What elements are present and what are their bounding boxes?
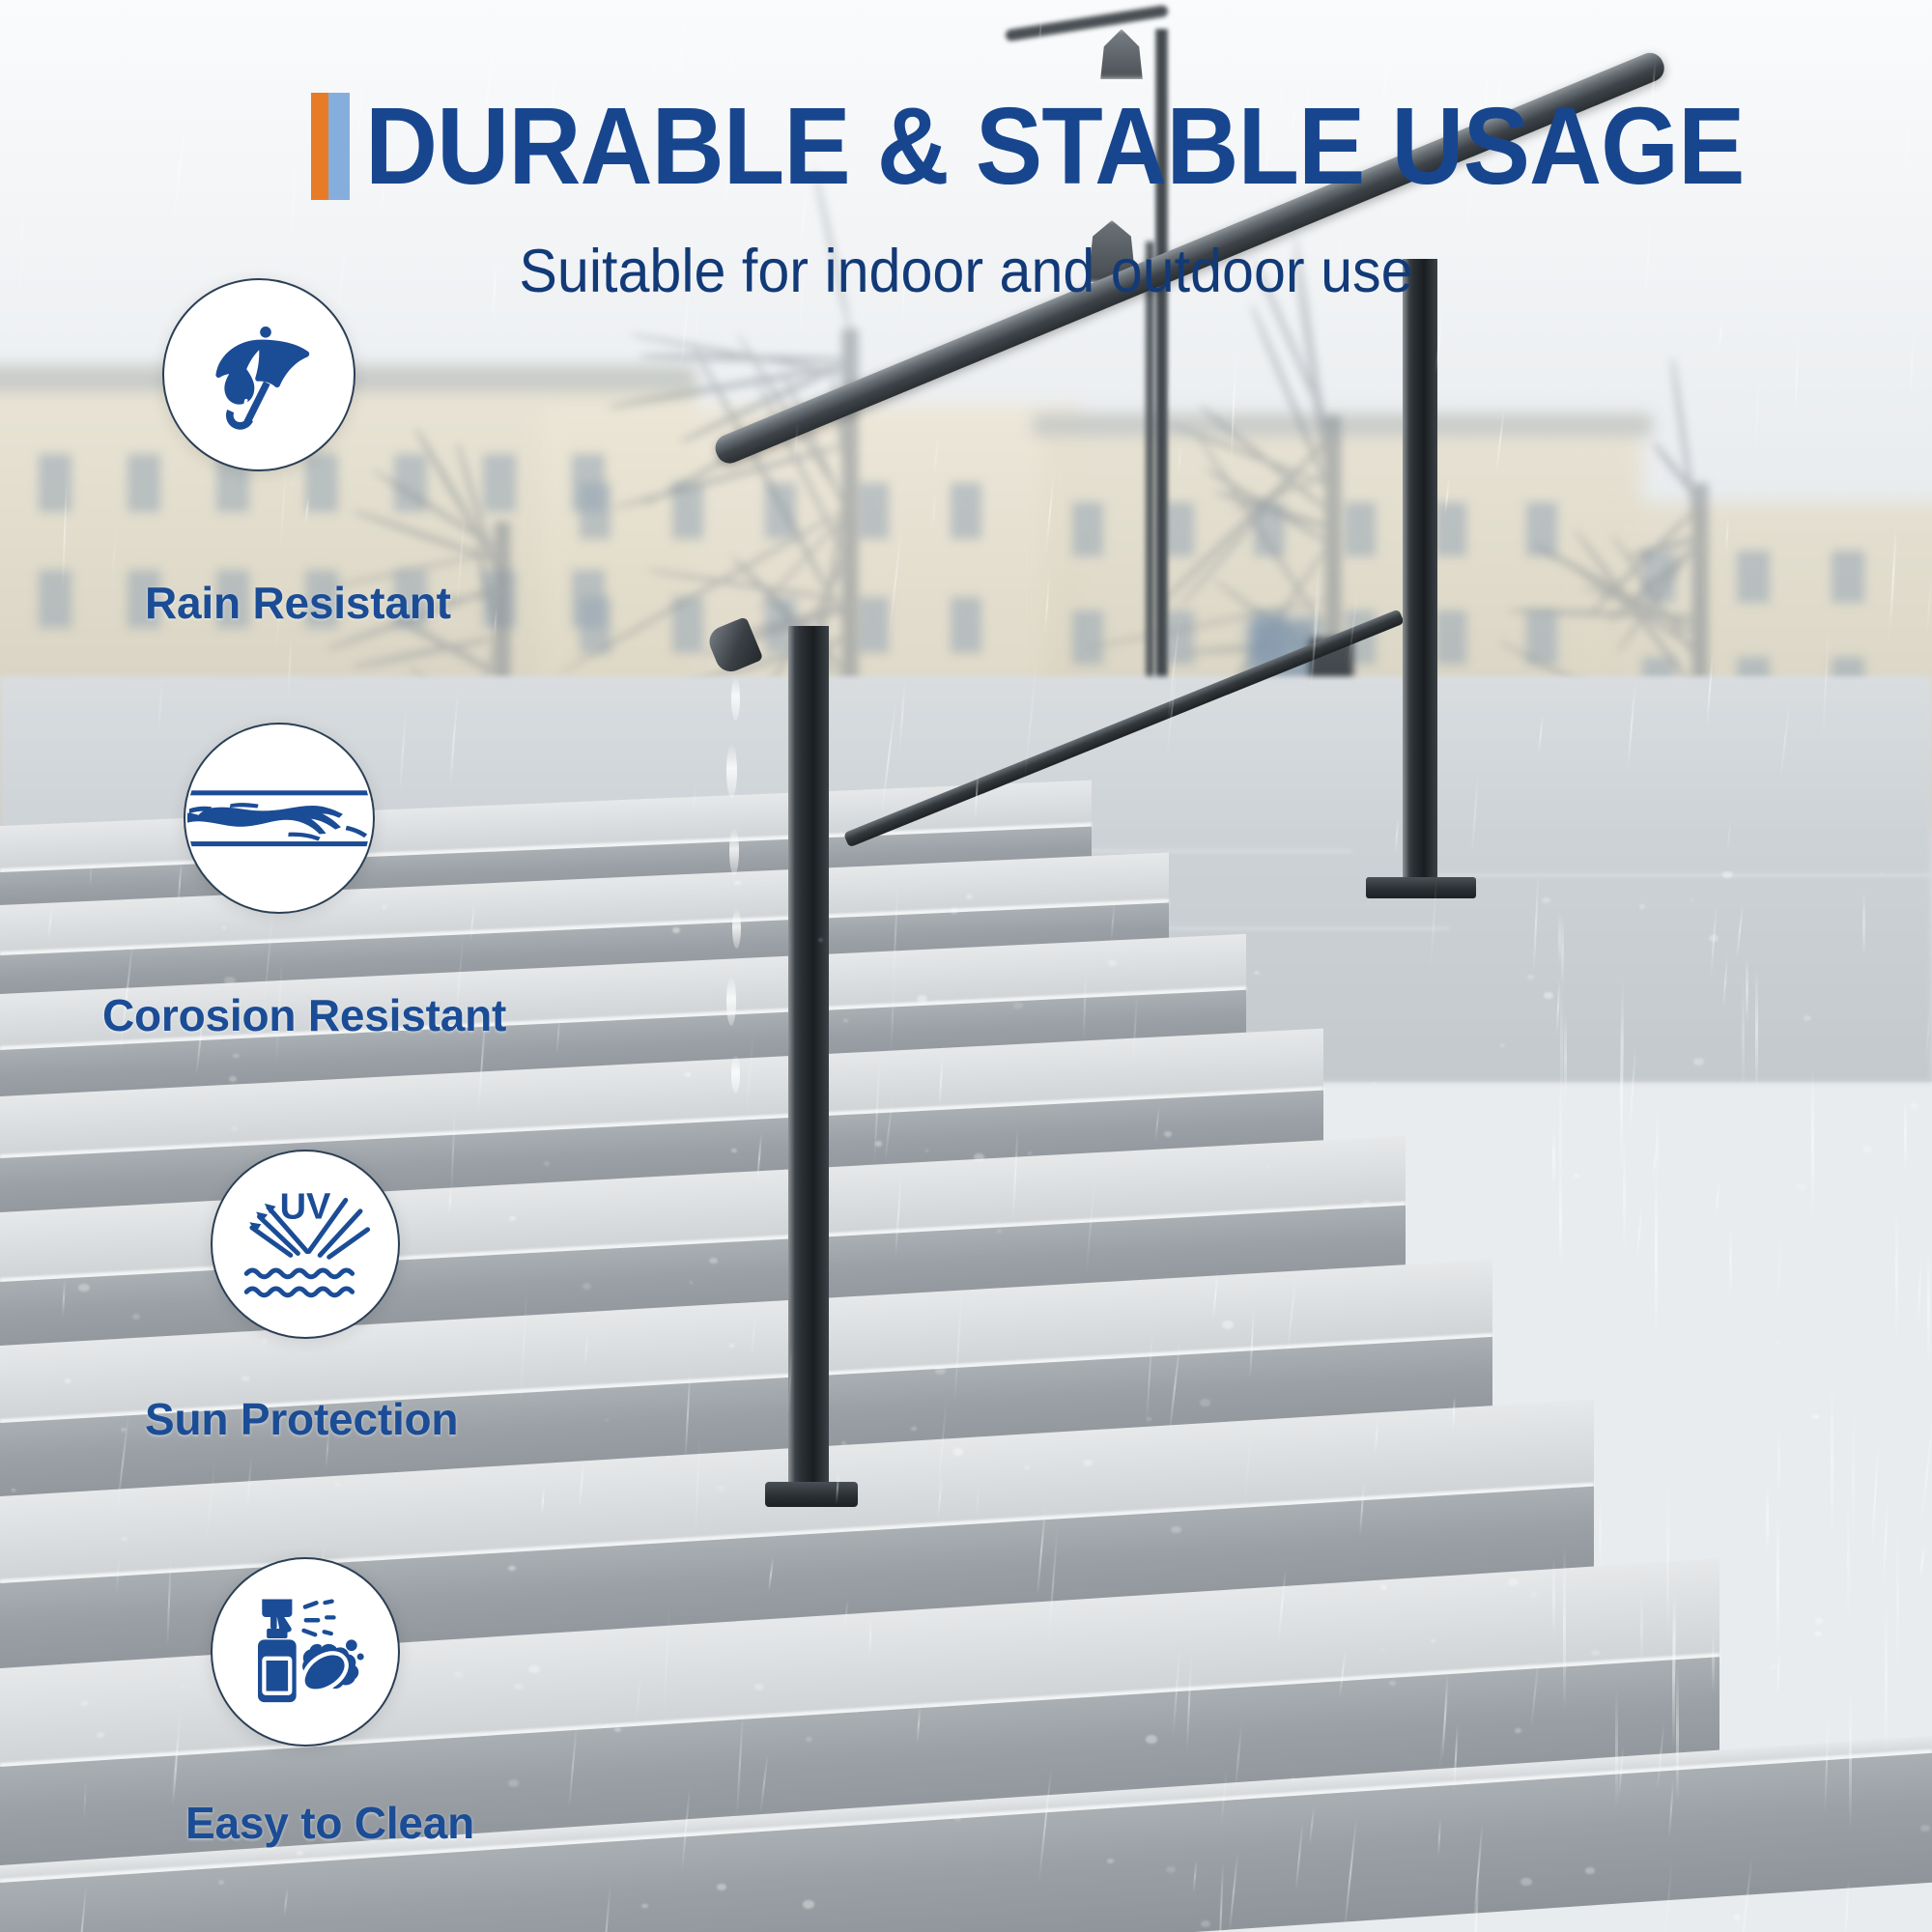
sun-protection-badge: UV <box>211 1150 400 1339</box>
title-row: DURABLE & STABLE USAGE <box>311 93 1864 200</box>
corrosion-resistant-badge <box>184 723 375 914</box>
product-infographic-canvas: DURABLE & STABLE USAGE Suitable for indo… <box>0 0 1932 1932</box>
rear-post-highlight <box>1403 259 1409 887</box>
spray-bottle-and-sponge-icon <box>238 1584 373 1719</box>
page-title: DURABLE & STABLE USAGE <box>365 93 1745 200</box>
page-subtitle: Suitable for indoor and outdoor use <box>58 237 1874 306</box>
uv-rays-reflection-icon: UV <box>232 1171 379 1318</box>
feature-label-easy-to-clean: Easy to Clean <box>185 1797 474 1849</box>
easy-to-clean-badge <box>211 1557 400 1747</box>
rear-post-base-plate <box>1366 877 1476 898</box>
front-post <box>788 626 829 1493</box>
front-post-highlight <box>788 626 795 1493</box>
mid-rail <box>843 609 1405 847</box>
light-blue-accent-bar <box>328 93 350 200</box>
uv-label: UV <box>280 1186 331 1227</box>
feature-label-corrosion-resistant: Corosion Resistant <box>102 989 506 1041</box>
rain-resistant-badge <box>162 278 355 471</box>
feature-label-rain-resistant: Rain Resistant <box>145 577 451 629</box>
rear-post <box>1403 259 1437 887</box>
umbrella-with-raindrop-icon <box>199 315 319 435</box>
top-rail-end-cap <box>705 616 764 676</box>
orange-accent-bar <box>311 93 328 200</box>
brush-stroke-coating-icon <box>185 724 373 913</box>
front-post-base-plate <box>765 1482 858 1507</box>
feature-label-sun-protection: Sun Protection <box>145 1393 458 1445</box>
